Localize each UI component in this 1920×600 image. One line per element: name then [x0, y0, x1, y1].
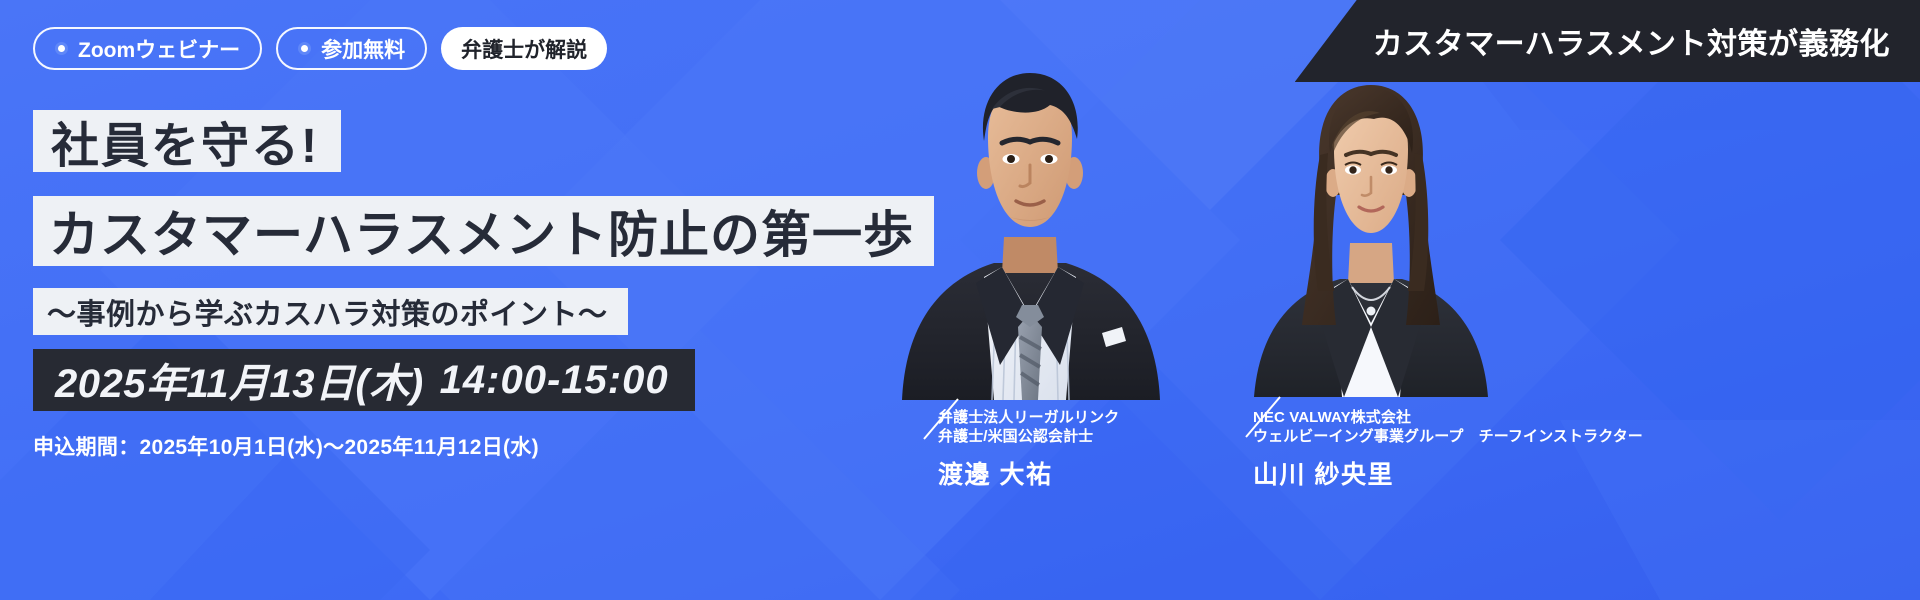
badge-zoom-webinar: Zoomウェビナー [33, 27, 262, 70]
female-speaker-portrait [1240, 75, 1502, 397]
speaker-1-role: 弁護士/米国公認会計士 [938, 427, 1119, 446]
speaker-1 [880, 65, 1210, 400]
webinar-banner: カスタマーハラスメント対策が義務化 Zoomウェビナー 参加無料 弁護士が解説 … [0, 0, 1920, 600]
title-line-1: 社員を守る! [33, 110, 341, 172]
dot-icon [55, 42, 68, 55]
title-line-3: 〜事例から学ぶカスハラ対策のポイント〜 [33, 288, 628, 335]
obligation-banner-text: カスタマーハラスメント対策が義務化 [1373, 19, 1890, 63]
badge-free-participation: 参加無料 [276, 27, 427, 70]
badge-free-participation-label: 参加無料 [321, 34, 405, 64]
speaker-2-role: ウェルビーイング事業グループ チーフインストラクター [1253, 427, 1643, 446]
badge-row: Zoomウェビナー 参加無料 弁護士が解説 [33, 27, 607, 70]
speaker-2-credit: NEC VALWAY株式会社 ウェルビーイング事業グループ チーフインストラクタ… [1253, 408, 1643, 491]
speaker-2 [1240, 75, 1540, 397]
badge-lawyer-explains: 弁護士が解説 [441, 27, 607, 70]
speaker-1-name: 渡邊 大祐 [938, 455, 1119, 491]
speaker-2-name: 山川 紗央里 [1253, 455, 1643, 491]
application-period: 申込期間：2025年10月1日(水)〜2025年11月12日(水) [33, 431, 539, 461]
badge-lawyer-explains-label: 弁護士が解説 [461, 34, 587, 64]
speaker-2-org: NEC VALWAY株式会社 [1253, 408, 1643, 427]
schedule-time: 14:00-15:00 [440, 358, 669, 403]
speaker-1-credit: 弁護士法人リーガルリンク 弁護士/米国公認会計士 渡邊 大祐 [938, 408, 1119, 491]
schedule-box: 2025年11月13日(木) 14:00-15:00 [33, 349, 695, 411]
schedule-date: 2025年11月13日(木) [55, 351, 424, 409]
badge-zoom-webinar-label: Zoomウェビナー [78, 34, 240, 64]
obligation-banner: カスタマーハラスメント対策が義務化 [1295, 0, 1920, 82]
title-line-2: カスタマーハラスメント防止の第一歩 [33, 196, 934, 266]
male-speaker-portrait [880, 65, 1180, 400]
speaker-1-org: 弁護士法人リーガルリンク [938, 408, 1119, 427]
dot-icon [298, 42, 311, 55]
